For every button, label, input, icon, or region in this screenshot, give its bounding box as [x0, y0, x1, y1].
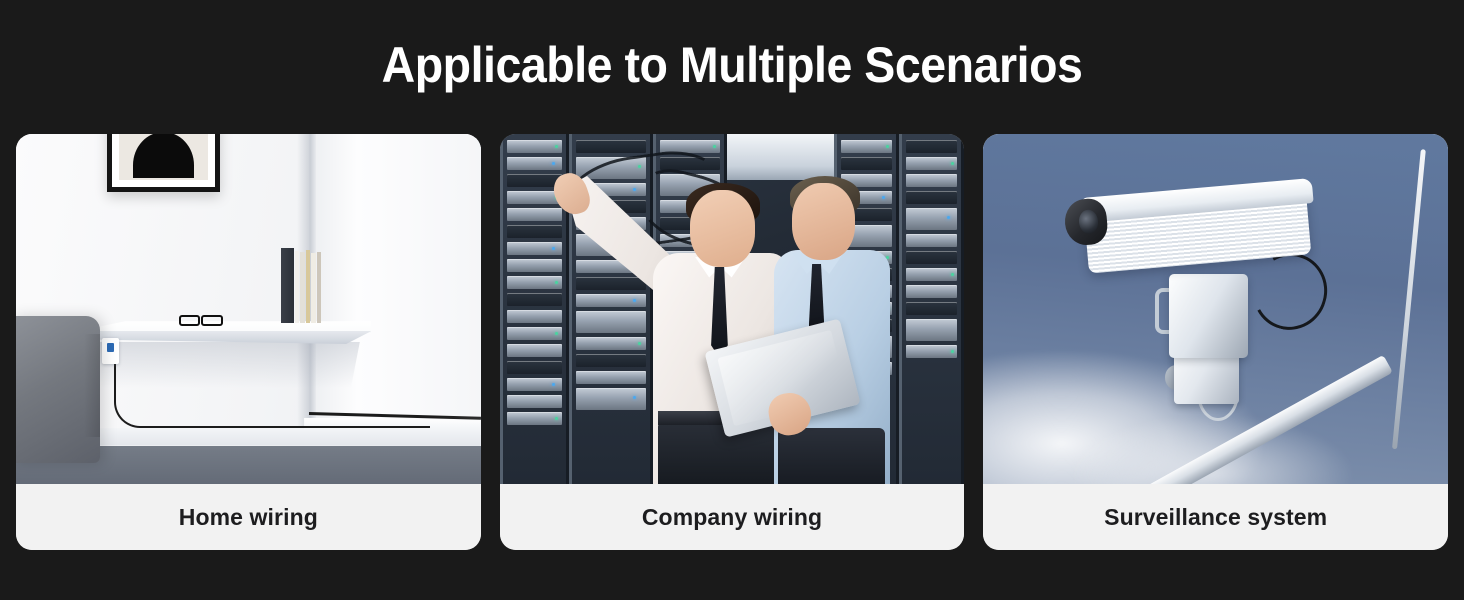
rack-unit [507, 310, 563, 323]
antenna-mast [1392, 149, 1426, 449]
rack-unit [906, 208, 957, 230]
book-spine [306, 250, 310, 323]
surveillance-system-photo [983, 134, 1448, 484]
rack-unit [507, 225, 563, 238]
framed-artwork [107, 134, 221, 192]
rack-unit [507, 208, 563, 221]
rack-unit [576, 371, 646, 384]
rack-unit [906, 191, 957, 204]
company-wiring-caption-text: Company wiring [642, 504, 822, 531]
scenarios-banner: Applicable to Multiple Scenarios [0, 0, 1464, 600]
rack-unit [507, 293, 563, 306]
rack-unit [507, 276, 563, 289]
rack-unit [576, 277, 646, 290]
home-wiring-caption-bar: Home wiring [16, 484, 481, 550]
rack-unit [507, 344, 563, 357]
rack-unit [507, 242, 563, 255]
rack-unit [507, 395, 563, 408]
technician-white-shirt-trousers [658, 421, 783, 484]
book-stack [281, 248, 321, 323]
book-spine [300, 252, 305, 323]
rack-unit [507, 259, 563, 272]
home-wiring-caption-text: Home wiring [179, 504, 318, 531]
book-spine [295, 251, 299, 323]
camera-lens [1063, 197, 1109, 246]
ethernet-wall-outlet [102, 338, 119, 364]
surveillance-camera-illustration [983, 134, 1448, 484]
rack-unit [507, 378, 563, 391]
scenario-card-home-wiring[interactable]: Home wiring [16, 134, 481, 550]
rack-unit [906, 319, 957, 341]
page-title: Applicable to Multiple Scenarios [51, 34, 1413, 96]
rack-unit [576, 388, 646, 410]
surveillance-system-caption-text: Surveillance system [1104, 504, 1327, 531]
rack-unit [576, 354, 646, 367]
rack-unit [507, 140, 563, 153]
scenario-card-company-wiring[interactable]: Company wiring [500, 134, 965, 550]
camera-pan-tilt-head [1169, 274, 1248, 358]
company-wiring-photo [500, 134, 965, 484]
rack-unit [576, 140, 646, 153]
rack-unit [906, 345, 957, 358]
book-spine [281, 248, 294, 323]
eyeglasses-icon [179, 315, 223, 322]
technician-white-shirt-head [690, 190, 755, 267]
rack-unit [841, 157, 892, 170]
rack-unit [906, 285, 957, 298]
server-room-illustration [500, 134, 965, 484]
rack-unit [507, 412, 563, 425]
home-room-illustration [16, 134, 481, 484]
rack-unit [576, 337, 646, 350]
technician-blue-shirt-head [792, 183, 855, 260]
server-rack [899, 134, 964, 484]
rack-unit [906, 251, 957, 264]
surveillance-system-caption-bar: Surveillance system [983, 484, 1448, 550]
rack-unit [841, 140, 892, 153]
rack-unit-column [906, 140, 957, 478]
rack-unit [507, 327, 563, 340]
book-spine [317, 252, 321, 323]
rack-unit [906, 234, 957, 247]
scenario-card-surveillance-system[interactable]: Surveillance system [983, 134, 1448, 550]
rack-unit [576, 311, 646, 333]
company-wiring-caption-bar: Company wiring [500, 484, 965, 550]
artwork-canvas [119, 134, 209, 180]
rack-unit [906, 174, 957, 187]
rack-unit [507, 157, 563, 170]
book-spine [311, 253, 316, 323]
technician-blue-shirt-trousers [778, 428, 885, 484]
rack-unit [507, 361, 563, 374]
rack-unit [906, 157, 957, 170]
rack-unit [576, 294, 646, 307]
home-wiring-photo [16, 134, 481, 484]
scenario-card-grid: Home wiring [16, 134, 1448, 550]
rack-unit [906, 140, 957, 153]
artwork-arch-shape [133, 134, 194, 178]
sofa [16, 316, 100, 463]
rack-unit [906, 302, 957, 315]
rack-unit [906, 268, 957, 281]
